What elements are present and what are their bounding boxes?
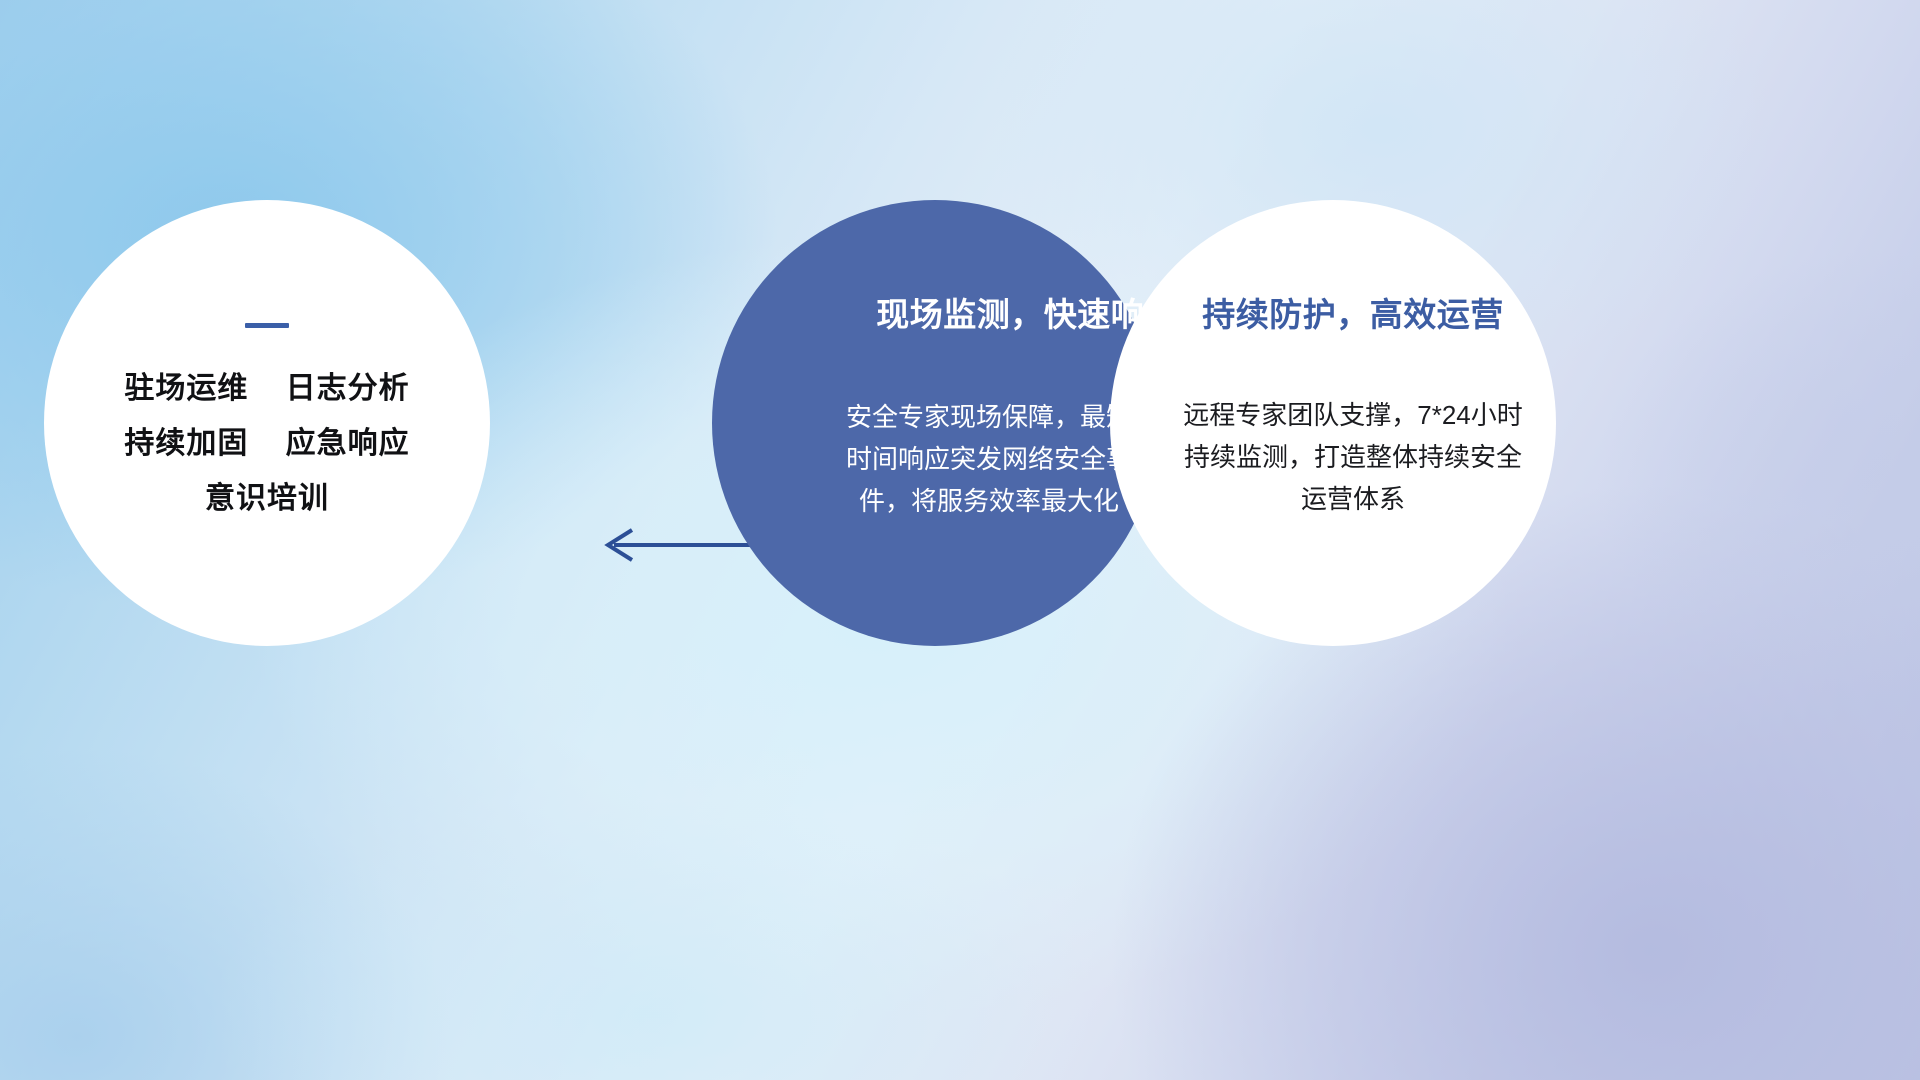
circle-continuous-protection[interactable]: 持续防护，高效运营 远程专家团队支撑，7*24小时持续监测，打造整体持续安全运营…: [1110, 200, 1556, 646]
capability-list: 驻场运维 日志分析 持续加固 应急响应 意识培训: [124, 372, 409, 515]
circle-body-continuous-protection: 远程专家团队支撑，7*24小时持续监测，打造整体持续安全运营体系: [1173, 394, 1533, 520]
circle-body-onsite-monitoring: 安全专家现场保障，最短时间响应突发网络安全事件，将服务效率最大化: [839, 396, 1139, 522]
slide-canvas: 驻场运维 日志分析 持续加固 应急响应 意识培训 现场监测，快速响应 安全专家现…: [0, 0, 1920, 1080]
capability-line-2: 持续加固 应急响应: [124, 427, 409, 460]
dash-accent-icon: [245, 323, 289, 328]
circle-title-continuous-protection: 持续防护，高效运营: [1202, 288, 1504, 336]
capability-line-1: 驻场运维 日志分析: [124, 372, 409, 405]
capability-line-3: 意识培训: [205, 482, 329, 515]
circle-onsite-monitoring[interactable]: 现场监测，快速响应 安全专家现场保障，最短时间响应突发网络安全事件，将服务效率最…: [712, 200, 1158, 646]
circle-onsite-capabilities[interactable]: 驻场运维 日志分析 持续加固 应急响应 意识培训: [44, 200, 490, 646]
